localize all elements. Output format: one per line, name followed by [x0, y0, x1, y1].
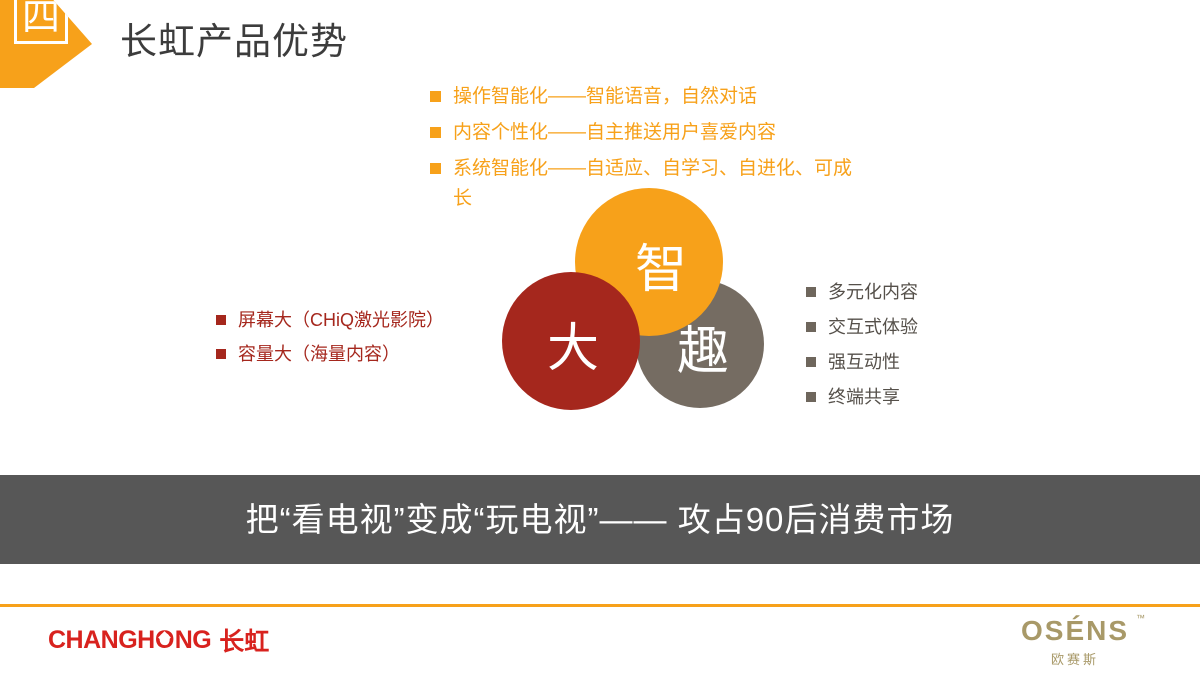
list-item: 强互动性 [806, 348, 1026, 376]
list-item: 多元化内容 [806, 278, 1026, 306]
list-item-label: 强互动性 [828, 348, 1026, 376]
feature-list-big: 屏幕大（CHiQ激光影院） 容量大（海量内容） [216, 306, 506, 374]
venn-circle-label: 智 [635, 227, 687, 302]
list-item-label: 终端共享 [828, 383, 1026, 411]
footer-divider [0, 604, 1200, 607]
slide-canvas: 四 长虹产品优势 操作智能化——智能语音，自然对话 内容个性化——自主推送用户喜… [0, 0, 1200, 675]
changhong-logo-chinese: 长虹 [219, 622, 269, 658]
venn-diagram: 趣 智 大 [495, 188, 785, 418]
list-item: 容量大（海量内容） [216, 340, 506, 368]
bullet-square-icon [430, 163, 441, 174]
bullet-square-icon [806, 357, 816, 367]
osens-logo-latin: OSÉNS ™ [1021, 615, 1129, 647]
list-item-label: 交互式体验 [828, 313, 1026, 341]
summary-banner-text: 把“看电视”变成“玩电视”—— 攻占90后消费市场 [246, 498, 955, 542]
bullet-square-icon [216, 315, 226, 325]
bullet-square-icon [806, 392, 816, 402]
list-item: 屏幕大（CHiQ激光影院） [216, 306, 506, 334]
osens-logo: OSÉNS ™ 欧赛斯 [1000, 615, 1150, 668]
section-number: 四 [14, 0, 68, 44]
section-number-marker: 四 [0, 0, 92, 88]
osens-logo-latin-text: OSÉNS [1021, 615, 1129, 646]
changhong-logo-latin-before: CHANGH [48, 626, 155, 655]
bullet-square-icon [806, 287, 816, 297]
list-item-label: 多元化内容 [828, 278, 1026, 306]
page-title: 长虹产品优势 [120, 18, 348, 66]
summary-banner: 把“看电视”变成“玩电视”—— 攻占90后消费市场 [0, 475, 1200, 564]
bullet-square-icon [806, 322, 816, 332]
changhong-logo-latin-after: NG [175, 626, 212, 655]
feature-list-fun: 多元化内容 交互式体验 强互动性 终端共享 [806, 278, 1026, 418]
changhong-logo-o-icon: O [155, 626, 175, 655]
list-item: 交互式体验 [806, 313, 1026, 341]
bullet-square-icon [430, 91, 441, 102]
list-item: 内容个性化——自主推送用户喜爱内容 [430, 118, 860, 148]
list-item: 终端共享 [806, 383, 1026, 411]
list-item-label: 内容个性化——自主推送用户喜爱内容 [453, 118, 860, 148]
osens-logo-chinese: 欧赛斯 [1000, 649, 1150, 668]
changhong-logo: CHANGH O NG 长虹 [48, 622, 269, 658]
list-item-label: 容量大（海量内容） [238, 340, 506, 368]
trademark-icon: ™ [1136, 613, 1145, 623]
bullet-square-icon [430, 127, 441, 138]
list-item-label: 操作智能化——智能语音，自然对话 [453, 82, 860, 112]
diamond-icon [158, 631, 171, 644]
list-item-label: 屏幕大（CHiQ激光影院） [238, 306, 506, 334]
bullet-square-icon [216, 349, 226, 359]
venn-circle-label: 大 [547, 306, 599, 381]
venn-circle-big: 大 [502, 272, 640, 410]
list-item: 操作智能化——智能语音，自然对话 [430, 82, 860, 112]
